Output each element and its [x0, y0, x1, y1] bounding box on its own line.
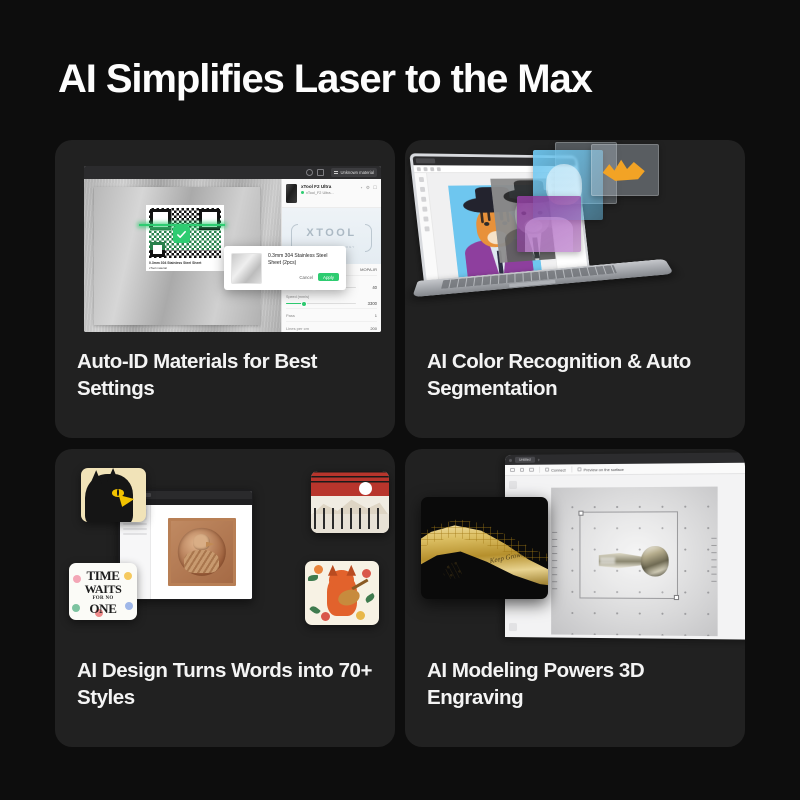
bell-icon[interactable]: [306, 169, 313, 176]
parameter-lines-label: Lines per cm: [286, 326, 309, 331]
wifi-icon[interactable]: ⋆: [360, 185, 363, 191]
plug-icon: [545, 467, 550, 472]
bracket-right-icon: [365, 224, 372, 252]
feature-card-auto-id-materials[interactable]: Unknown material: [55, 140, 395, 438]
shape-tool-icon[interactable]: [423, 167, 427, 171]
apply-button[interactable]: Apply: [318, 273, 339, 281]
device-header[interactable]: xTool F2 Ultra xTool_F2 Ultra... ⋆ ⚙ ☐: [282, 179, 381, 208]
style-sample-cat[interactable]: [81, 468, 146, 522]
card-media-auto-id: Unknown material: [55, 140, 395, 340]
document-tab[interactable]: Untitled: [515, 457, 535, 463]
settings-tool-icon[interactable]: [509, 623, 517, 631]
lettering-text: TIME WAITS FOR NO ONE: [69, 563, 137, 620]
style-sample-fox[interactable]: [305, 561, 379, 625]
processing-mode-value: MOPA-IR: [360, 267, 377, 272]
parameter-speed: Speed (mm/s) 3300: [286, 292, 377, 308]
card-media-design-styles: TIME WAITS FOR NO ONE: [55, 449, 395, 649]
lettering-line-1: TIME: [86, 569, 119, 582]
lettering-line-4: ONE: [89, 602, 116, 615]
material-dialog-thumbnail: [231, 253, 262, 284]
rect-tool-icon[interactable]: [421, 197, 426, 202]
card-media-color-recognition: [405, 140, 745, 340]
feature-card-grid: Unknown material: [55, 140, 745, 747]
device-status-label: xTool_F2 Ultra...: [306, 191, 334, 195]
select-tool-icon[interactable]: [417, 167, 421, 171]
material-detected-dialog[interactable]: 0.3mm 304 Stainless Steel Sheet (2pcs) C…: [224, 246, 346, 290]
device-actions: ⋆ ⚙ ☐: [360, 185, 377, 191]
parameter-speed-label: Speed (mm/s): [286, 295, 377, 299]
page-title: AI Simplifies Laser to the Max: [58, 57, 592, 102]
text-tool-icon[interactable]: [430, 167, 434, 171]
window-dot-icon: [509, 458, 512, 461]
device-name: xTool F2 Ultra: [301, 184, 356, 189]
cancel-button[interactable]: Cancel: [299, 275, 313, 280]
material-label-line2: xTool material: [149, 266, 221, 270]
ruler-right: [711, 537, 716, 585]
parameter-pass-value: 1: [375, 313, 377, 318]
pen-tool-icon[interactable]: [419, 187, 424, 192]
laser-app-window: Unknown material: [84, 166, 381, 332]
feature-card-ai-design-styles[interactable]: TIME WAITS FOR NO ONE: [55, 449, 395, 747]
device-status: xTool_F2 Ultra...: [301, 191, 356, 195]
sidebar-line: [123, 523, 147, 526]
undo-icon[interactable]: [519, 468, 524, 473]
eye-icon: [577, 467, 582, 472]
window-tab[interactable]: [416, 158, 436, 163]
material-dialog-title: 0.3mm 304 Stainless Steel Sheet (2pcs): [268, 253, 339, 267]
card-caption-ai-modeling: AI Modeling Powers 3D Engraving: [427, 657, 731, 711]
app-toolbar: Unknown material: [84, 166, 381, 179]
preview-surface-button[interactable]: Preview on the surface: [577, 466, 624, 471]
vase-3d-object[interactable]: [599, 546, 669, 577]
ruler-left: [552, 532, 557, 591]
segmented-layer-orange: [591, 144, 659, 196]
parameter-pass-label: Pass: [286, 313, 295, 318]
parameter-power-value: 40: [360, 285, 377, 290]
card-caption-design-styles: AI Design Turns Words into 70+ Styles: [77, 657, 381, 711]
sidebar-line: [123, 533, 147, 536]
cursor-tool-icon[interactable]: [418, 177, 423, 182]
layers-tool-icon[interactable]: [509, 481, 517, 489]
connect-button[interactable]: Connect: [545, 467, 566, 472]
card-caption-color-recognition: AI Color Recognition & Auto Segmentation: [427, 348, 731, 402]
card-caption-auto-id: Auto-ID Materials for Best Settings: [77, 348, 381, 402]
parameter-lines-per-cm[interactable]: Lines per cm 200: [286, 321, 377, 332]
feature-card-ai-modeling[interactable]: Untitled +: [405, 449, 745, 747]
material-label-line1: 0.3mm 304 Stainless Steel Sheet: [149, 261, 201, 265]
floral-motif-icon: [440, 558, 467, 582]
promo-page: AI Simplifies Laser to the Max Unknown m…: [0, 0, 800, 800]
eagle-illustration: [180, 533, 224, 573]
material-label-text: 0.3mm 304 Stainless Steel Sheet xTool ma…: [149, 261, 221, 270]
style-sample-lettering[interactable]: TIME WAITS FOR NO ONE: [69, 563, 137, 620]
copy-icon[interactable]: ☐: [373, 185, 377, 191]
gear-icon[interactable]: ⚙: [366, 185, 370, 191]
redo-icon[interactable]: [529, 467, 534, 472]
text-tool-icon[interactable]: [422, 207, 427, 212]
feature-card-ai-color-recognition[interactable]: AI Color Recognition & Auto Segmentation: [405, 140, 745, 438]
toolbar-divider: [571, 466, 572, 472]
style-sample-desert-sunset[interactable]: [311, 471, 389, 533]
scan-success-icon: [173, 226, 190, 243]
plus-icon[interactable]: +: [538, 457, 541, 462]
engraving-text: Keep Growing: [480, 548, 532, 584]
parameter-speed-slider[interactable]: [286, 303, 356, 305]
card-media-ai-modeling: Untitled +: [405, 449, 745, 649]
lettering-line-3: FOR NO: [92, 596, 113, 601]
ai-tool-icon[interactable]: [424, 226, 429, 231]
curved-surface-preview-card[interactable]: Keep Growing: [421, 497, 548, 599]
camera-icon[interactable]: [317, 169, 324, 176]
upload-tool-icon[interactable]: [423, 216, 428, 221]
toolbar-divider: [539, 467, 540, 473]
lettering-line-2: WAITS: [85, 583, 122, 595]
material-badge[interactable]: Unknown material: [331, 168, 377, 177]
engraving-overlay: Keep Growing: [436, 550, 533, 585]
parameter-pass[interactable]: Pass 1: [286, 308, 377, 321]
layers-icon: [334, 171, 338, 175]
status-dot-icon: [301, 191, 304, 194]
device-thumbnail: [286, 184, 297, 203]
preview-watermark: XTOOL: [306, 227, 356, 239]
eagle-relief-artwork[interactable]: [168, 518, 236, 586]
image-tool-icon[interactable]: [437, 167, 441, 171]
camera-stage-view[interactable]: [551, 487, 718, 637]
parameter-speed-value: 3300: [360, 301, 377, 306]
material-badge-label: Unknown material: [340, 170, 374, 175]
segmented-layer-purple: [517, 196, 581, 252]
material-qr-label: 0.3mm 304 Stainless Steel Sheet xTool ma…: [146, 205, 224, 271]
tool-sidebar: [414, 173, 440, 286]
parameter-lines-value: 200: [370, 326, 377, 331]
sidebar-line: [123, 528, 147, 531]
save-icon[interactable]: [510, 468, 514, 473]
